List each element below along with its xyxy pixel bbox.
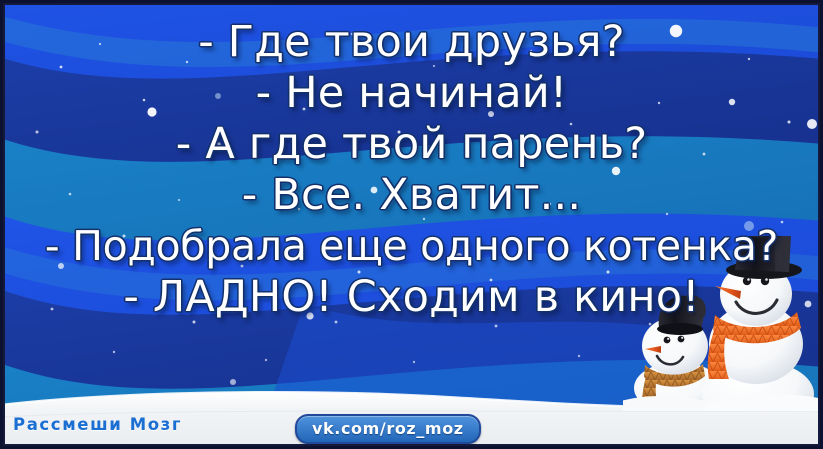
brand-label: Рассмеши Мозг: [13, 415, 182, 434]
large-snowman-eye-right: [761, 277, 769, 285]
snowmen-svg: [623, 236, 823, 411]
vk-link-label: vk.com/roz_moz: [312, 419, 464, 438]
vk-link-badge[interactable]: vk.com/roz_moz: [295, 414, 481, 444]
large-snowman-top-hat-icon: [726, 236, 802, 279]
large-snowman-eye-left: [743, 277, 751, 285]
small-snowman-beanie-icon: [657, 295, 706, 335]
small-snowman-eye-left: [664, 337, 671, 344]
large-snowman: [702, 236, 814, 411]
snowmen-illustration: [623, 236, 823, 411]
small-snowman-eye-right: [678, 336, 685, 343]
footer-bar: Рассмеши Мозг vk.com/roz_moz: [4, 403, 819, 449]
joke-image-card: - Где твои друзья? - Не начинай! - А где…: [0, 0, 823, 449]
